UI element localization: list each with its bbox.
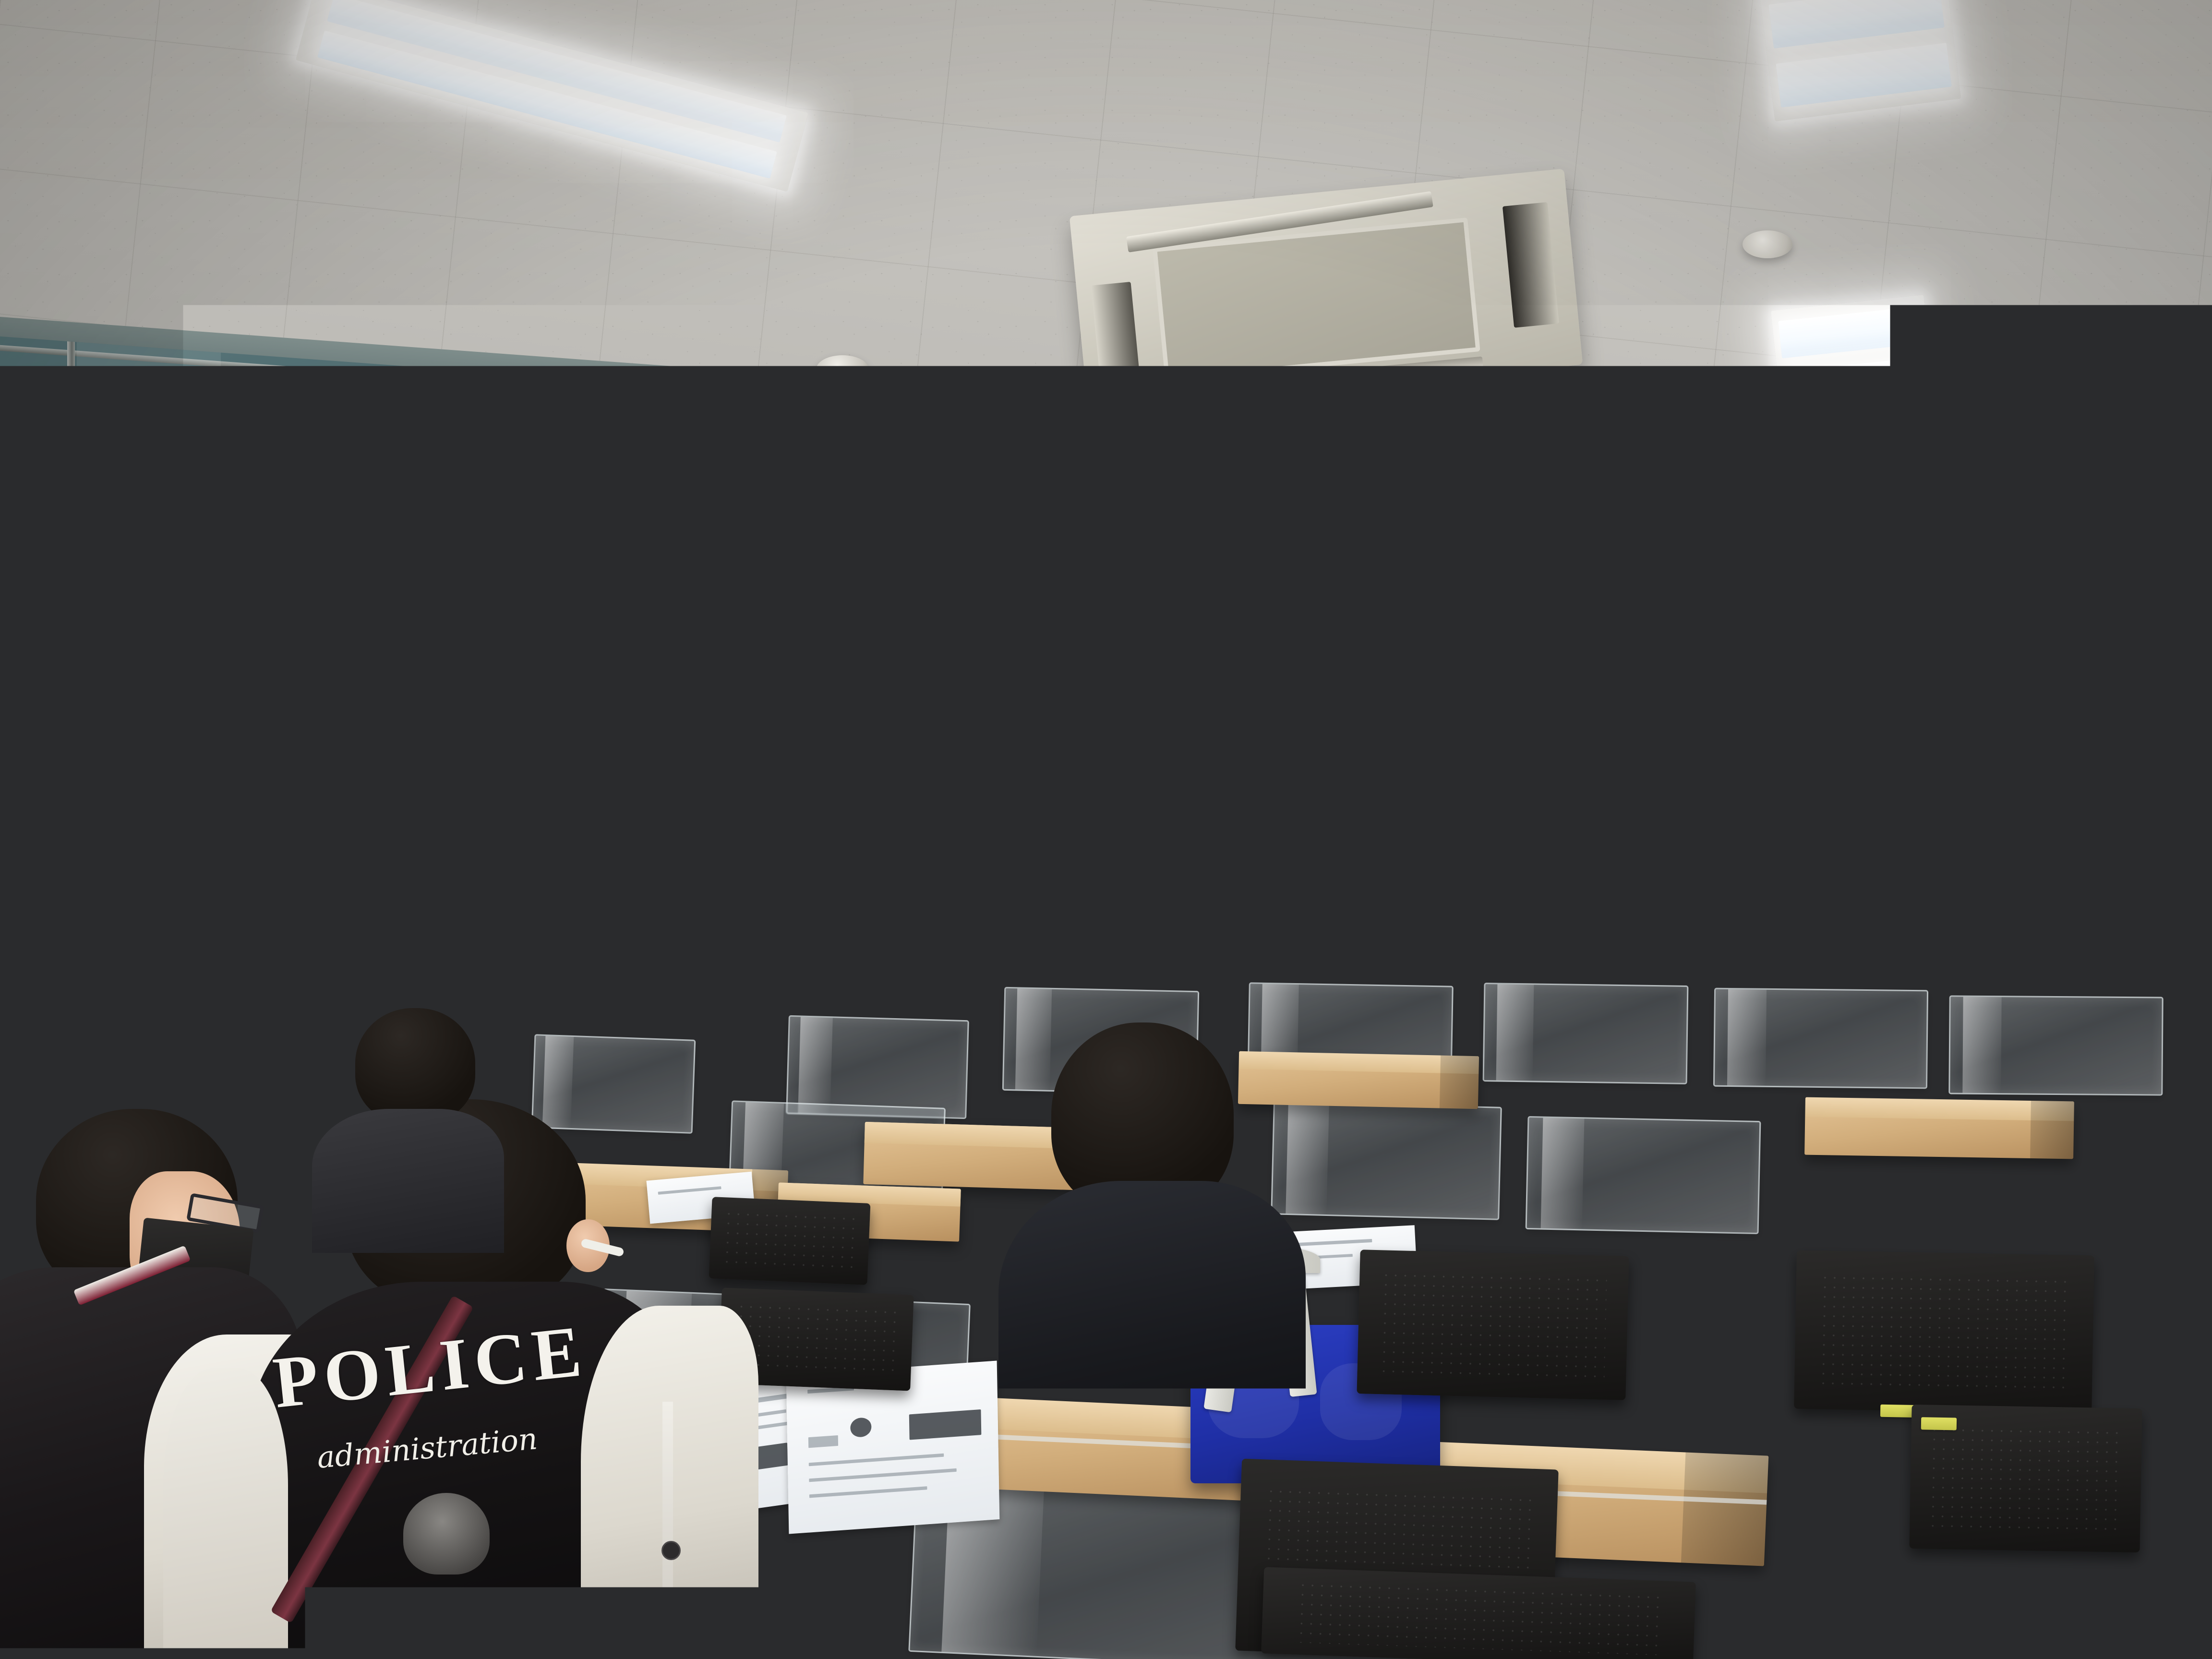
slide-title: 우쿨렐레 코드 알아보기 (1352, 640, 1734, 695)
student-left-back (298, 1008, 499, 1238)
police-jacket-emblem (403, 1493, 490, 1575)
acrylic-divider-7 (1948, 995, 2163, 1095)
fret-label-1: 1번프렛 (1456, 900, 1493, 917)
glass-sticker-3 (0, 837, 48, 855)
wall-poster (2158, 557, 2212, 1128)
chair-asset-label-2 (1921, 1417, 1957, 1430)
slide-subtitle: 손목을 악기의 헤드쪽으로 약 45도 정도 틀어주자 (1452, 700, 1745, 736)
chair-back-2[interactable] (1794, 1250, 2094, 1414)
reflected-fretboard (67, 528, 243, 624)
fret-label-2: 2번프렛 (1531, 898, 1568, 914)
fret-label-4: 4번프렛 (1679, 892, 1716, 909)
ceiling-light-8 (1771, 295, 1935, 421)
police-jacket-button (661, 1541, 681, 1560)
chair-back-7[interactable] (1261, 1567, 1696, 1659)
foreground-center-body (998, 1181, 1306, 1464)
reflected-chord-name: G7 (283, 470, 323, 506)
glass-door-handle[interactable] (15, 904, 24, 1024)
string-label-2: 2번줄 (1359, 803, 1419, 839)
police-jacket-placket (662, 1402, 673, 1659)
projected-slide: 우쿨렐레 코드 알아보기 G7 손목을 악기의 헤드쪽으로 약 45도 정도 틀… (1307, 601, 1790, 964)
string-label-1: 1번줄 (1357, 770, 1417, 805)
acrylic-divider-6 (1713, 988, 1928, 1089)
acrylic-divider-5 (1483, 983, 1689, 1084)
classroom-photo: 우쿨렐레 코드 알아보기 G7 손목을 악기의 헤드쪽으로 약 45도 정도 틀… (0, 0, 2212, 1659)
glass-notice-2 (599, 612, 714, 739)
glass-sticker-1 (0, 792, 46, 813)
glass-sticker-2 (0, 816, 48, 835)
chair-back-4[interactable] (1909, 1405, 2142, 1552)
student-left-back-head (355, 1008, 475, 1123)
chair-asset-label-1 (1880, 1405, 1916, 1418)
slide-chord-name: G7 (1369, 705, 1427, 755)
string-label-4: 4번줄 (1363, 870, 1423, 906)
glass-notice-1 (452, 598, 574, 728)
acrylic-divider-10 (1526, 1116, 1761, 1234)
student-foreground-center (998, 1022, 1306, 1464)
student-midleft-hairclip (577, 1007, 601, 1026)
fretboard-grid (1423, 751, 1709, 903)
smoke-detector-3 (1743, 230, 1792, 258)
reflected-subtitle: 손목을 악기의 헤드쪽으로 약 45도 정도 틀어주자 (24, 487, 240, 506)
ukulele-box-4 (1804, 1097, 2074, 1159)
smoke-detector-1 (816, 355, 869, 384)
chord-diagram: 1번줄 2번줄 3번줄 4번줄 1번프렛 2번프렛 (1357, 746, 1750, 919)
student-left-back-top (312, 1109, 504, 1253)
fret-label-3: 3번프렛 (1605, 895, 1642, 912)
emergency-exit-sign (0, 520, 64, 590)
chair-back-1[interactable] (1357, 1250, 1629, 1400)
string-label-column: 1번줄 2번줄 3번줄 4번줄 (1357, 770, 1423, 906)
string-label-3: 3번줄 (1361, 837, 1420, 872)
